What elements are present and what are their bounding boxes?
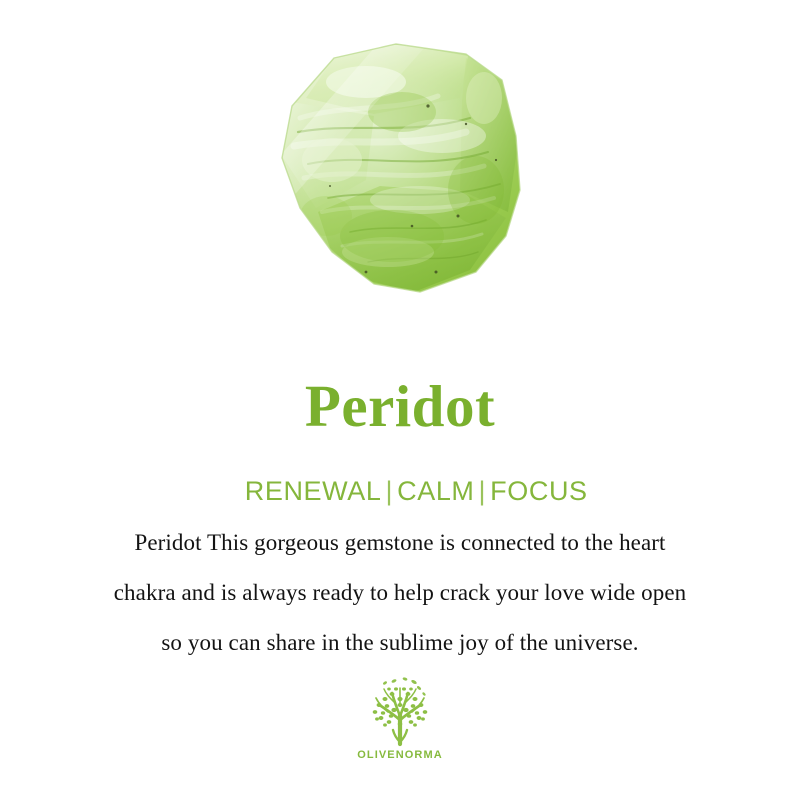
- product-info-card: Peridot RENEWAL|CALM|FOCUS Peridot This …: [0, 0, 800, 800]
- gemstone-image-container: [0, 40, 800, 310]
- keyword-focus: FOCUS: [490, 476, 588, 506]
- page-title: Peridot: [0, 373, 800, 439]
- brand-wordmark: OLIVENORMA: [357, 749, 443, 761]
- description-line-1: Peridot This gorgeous gemstone is connec…: [30, 518, 770, 568]
- description-text: Peridot This gorgeous gemstone is connec…: [30, 518, 770, 668]
- peridot-gemstone-icon: [270, 40, 530, 302]
- olive-tree-icon: [361, 672, 439, 748]
- description-line-3: so you can share in the sublime joy of t…: [30, 618, 770, 668]
- keyword-separator-1: |: [381, 476, 397, 506]
- keyword-renewal: RENEWAL: [245, 476, 382, 506]
- brand-logo: OLIVENORMA: [0, 672, 800, 761]
- keyword-separator-2: |: [475, 476, 491, 506]
- description-line-2: chakra and is always ready to help crack…: [30, 568, 770, 618]
- tree-falling-leaves: [382, 677, 426, 696]
- keyword-calm: CALM: [397, 476, 474, 506]
